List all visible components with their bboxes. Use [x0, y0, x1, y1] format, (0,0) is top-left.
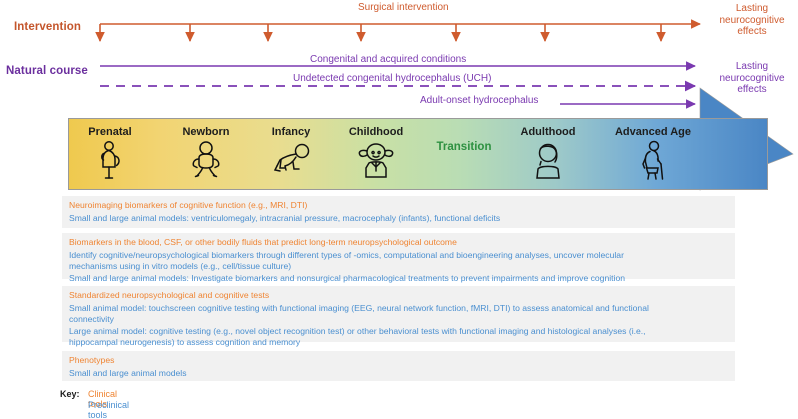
life-stage-prenatal-label: Prenatal: [62, 126, 158, 138]
life-stage-childhood-label: Childhood: [328, 126, 424, 138]
info-panel-cognitive-tests: Standardized neuropsychological and cogn…: [62, 286, 735, 342]
info-panel-neuroimaging: Neuroimaging biomarkers of cognitive fun…: [62, 196, 735, 228]
life-stage-adulthood: Adulthood: [500, 126, 596, 180]
caption-surgical-intervention: Surgical intervention: [358, 2, 449, 14]
key-item-preclinical-tools: Preclinical tools: [88, 400, 129, 419]
row-label-natural-course: Natural course: [6, 65, 88, 77]
row-label-intervention: Intervention: [14, 21, 81, 33]
life-stage-advanced-age: Advanced Age: [605, 126, 701, 180]
panel-line: Small and large animal models: ventricul…: [69, 213, 728, 225]
adult-person-icon: [529, 140, 567, 180]
panel-line: Large animal model: cognitive testing (e…: [69, 326, 728, 338]
panel-line: Small and large animal models: [69, 368, 728, 380]
transition-label: Transition: [416, 141, 512, 153]
life-stage-childhood: Childhood: [328, 126, 424, 180]
endcap-lasting-effects-intervention: Lasting neurocognitive effects: [709, 3, 795, 38]
life-stage-advanced-age-label: Advanced Age: [605, 126, 701, 138]
panel-line: Identify cognitive/neuropsychological bi…: [69, 250, 728, 262]
elderly-person-cane-icon: [635, 140, 671, 180]
intervention-timeline-group: [100, 24, 700, 41]
panel-heading: Neuroimaging biomarkers of cognitive fun…: [69, 200, 728, 212]
caption-congenital-acquired: Congenital and acquired conditions: [310, 54, 466, 66]
infant-icon: [189, 140, 223, 180]
caption-undetected-congenital-hydrocephalus: Undetected congenital hydrocephalus (UCH…: [293, 73, 491, 85]
life-stage-newborn-label: Newborn: [158, 126, 254, 138]
caption-adult-onset-hydrocephalus: Adult-onset hydrocephalus: [420, 95, 538, 107]
panel-line: Small animal model: touchscreen cognitiv…: [69, 303, 728, 315]
panel-heading: Standardized neuropsychological and cogn…: [69, 290, 728, 302]
crawling-baby-icon: [269, 140, 313, 176]
panel-heading: Phenotypes: [69, 355, 728, 367]
panel-line: mechanisms using in vitro models (e.g., …: [69, 261, 728, 273]
info-panel-fluid-biomarkers: Biomarkers in the blood, CSF, or other b…: [62, 233, 735, 279]
child-face-icon: [353, 140, 399, 180]
panel-line: Small and large animal models: Investiga…: [69, 273, 728, 285]
panel-line: connectivity: [69, 314, 728, 326]
pregnant-woman-icon: [95, 140, 125, 180]
endcap-lasting-effects-natural: Lasting neurocognitive effects: [709, 61, 795, 96]
key-label: Key:: [60, 389, 80, 399]
natural-course-timeline-group: [100, 66, 695, 104]
panel-heading: Biomarkers in the blood, CSF, or other b…: [69, 237, 728, 249]
figure-root: Intervention Natural course: [0, 0, 798, 419]
life-stage-prenatal: Prenatal: [62, 126, 158, 180]
life-stage-infancy-label: Infancy: [243, 126, 339, 138]
panel-line: hippocampal neurogenesis) to assess cogn…: [69, 337, 728, 349]
life-stage-infancy: Infancy: [243, 126, 339, 176]
life-stage-adulthood-label: Adulthood: [500, 126, 596, 138]
life-stage-newborn: Newborn: [158, 126, 254, 180]
info-panel-phenotypes: Phenotypes Small and large animal models: [62, 351, 735, 381]
